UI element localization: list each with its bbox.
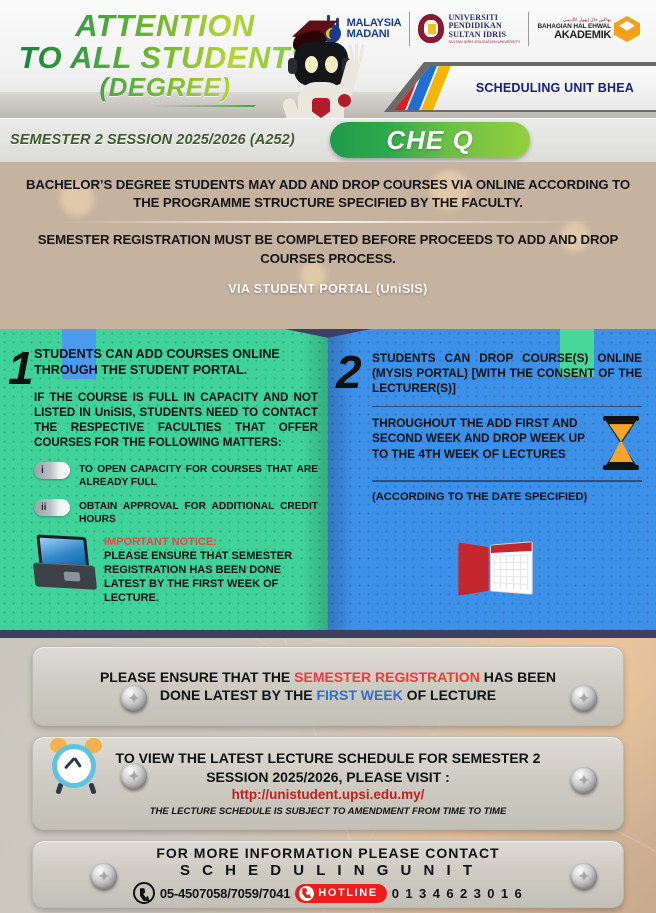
roman-badge-ii-label: ii [34, 502, 47, 513]
roman-badge-ii: ii [34, 499, 70, 516]
roman-badge-i: i [34, 462, 70, 479]
screw-icon [571, 685, 597, 711]
screw-icon [571, 767, 597, 793]
important-notice: IMPORTANT NOTICE: PLEASE ENSURE THAT SEM… [34, 536, 318, 606]
card2-line-1: TO VIEW THE LATEST LECTURE SCHEDULE FOR … [116, 749, 541, 767]
cheq-badge-label: CHE Q [386, 125, 473, 156]
info-card-registration: PLEASE ENSURE THAT THE SEMESTER REGISTRA… [32, 646, 624, 726]
blue-lead-text: STUDENTS CAN DROP COURSE(S) ONLINE (MYSI… [372, 351, 642, 396]
bhea-logo: بهاݢين حال إيهول اكاديمي BAHAGIAN HAL EH… [529, 16, 648, 42]
list-item: ii OBTAIN APPROVAL FOR ADDITIONAL CREDIT… [34, 499, 318, 527]
robot-mascot-icon [272, 14, 382, 118]
hotline-label: HOTLINE [318, 887, 377, 899]
hotline-phone-icon [299, 886, 314, 901]
header: ATTENTION TO ALL STUDENTS (DEGREE) MALAY… [0, 0, 656, 118]
semester-bar: SEMESTER 2 SESSION 2025/2026 (A252) CHE … [0, 118, 656, 162]
screw-icon [121, 763, 147, 789]
list-item-text: OBTAIN APPROVAL FOR ADDITIONAL CREDIT HO… [79, 499, 318, 527]
laptop-icon [34, 536, 96, 592]
scheduling-banner-label: SCHEDULING UNIT BHEA [476, 81, 656, 95]
alarm-clock-icon [48, 738, 104, 794]
schedule-url-link[interactable]: http://unistudent.upsi.edu.my/ [116, 786, 541, 804]
card2-line-2: SESSION 2025/2026, PLEASE VISIT : [116, 768, 541, 786]
intro-section: BACHELOR’S DEGREE STUDENTS MAY ADD AND D… [0, 162, 656, 329]
upsi-crest-icon [418, 14, 444, 43]
screw-icon [571, 863, 597, 889]
cheq-badge: CHE Q [330, 122, 530, 158]
step-number-1: 1 [8, 345, 34, 391]
bottom-top-border [0, 630, 656, 638]
upsi-line-3: SULTAN IDRIS [448, 31, 520, 39]
green-lead-text: STUDENTS CAN ADD COURSES ONLINE THROUGH … [34, 347, 318, 378]
intro-paragraph-2: SEMESTER REGISTRATION MUST BE COMPLETED … [18, 231, 638, 267]
screw-icon [91, 863, 117, 889]
contact-phone-number: 05-4507058/7059/7041 [160, 886, 290, 901]
green-panel-body: STUDENTS CAN ADD COURSES ONLINE THROUGH … [34, 347, 318, 605]
title-underline [149, 105, 256, 107]
upsi-logo: UNIVERSITI PENDIDIKAN SULTAN IDRIS SULTA… [410, 14, 528, 44]
roman-badge-i-label: i [34, 465, 44, 476]
notice-title: IMPORTANT NOTICE: [104, 536, 318, 549]
blue-middle-text: THROUGHOUT THE ADD FIRST AND SECOND WEEK… [372, 416, 594, 462]
card1-part3: OF LECTURE [403, 687, 496, 703]
blue-note-text: (ACCORDING TO THE DATE SPECIFIED) [372, 491, 642, 503]
info-card-schedule: TO VIEW THE LATEST LECTURE SCHEDULE FOR … [32, 736, 624, 830]
intro-paragraph-1: BACHELOR’S DEGREE STUDENTS MAY ADD AND D… [18, 176, 638, 212]
hotline-number: 0 1 3 4 6 2 3 0 1 6 [392, 886, 523, 901]
card1-highlight-semester-registration: SEMESTER REGISTRATION [294, 669, 480, 685]
card3-line-1: FOR MORE INFORMATION PLEASE CONTACT [133, 844, 523, 862]
list-item-text: TO OPEN CAPACITY FOR COURSES THAT ARE AL… [79, 462, 318, 490]
notice-text: PLEASE ENSURE THAT SEMESTER REGISTRATION… [104, 549, 318, 605]
card3-scheduling-unit: S C H E D U L I N G U N I T [133, 862, 523, 879]
blue-divider-1 [372, 406, 642, 408]
card1-highlight-first-week: FIRST WEEK [316, 687, 402, 703]
poster: ATTENTION TO ALL STUDENTS (DEGREE) MALAY… [0, 0, 656, 913]
card2-fine-print: THE LECTURE SCHEDULE IS SUBJECT TO AMEND… [116, 806, 541, 817]
phone-icon [133, 882, 155, 904]
bhea-hexagon-icon [614, 16, 640, 42]
scheduling-banner: SCHEDULING UNIT BHEA [394, 66, 656, 110]
calendar-icon [458, 539, 532, 595]
blue-panel-body: STUDENTS CAN DROP COURSE(S) ONLINE (MYSI… [372, 351, 642, 503]
steps-section: 1 2 STUDENTS CAN ADD COURSES ONLINE THRO… [0, 329, 656, 630]
green-item-list: i TO OPEN CAPACITY FOR COURSES THAT ARE … [34, 462, 318, 526]
contact-row: 05-4507058/7059/7041 HOTLINE 0 1 3 4 6 2… [133, 882, 523, 904]
semester-label: SEMESTER 2 SESSION 2025/2026 (A252) [0, 132, 295, 148]
hotline-badge: HOTLINE [295, 884, 386, 903]
list-item: i TO OPEN CAPACITY FOR COURSES THAT ARE … [34, 462, 318, 490]
green-paragraph: IF THE COURSE IS FULL IN CAPACITY AND NO… [34, 390, 318, 450]
step-number-2: 2 [336, 349, 362, 395]
intro-via-portal: VIA STUDENT PORTAL (UniSIS) [18, 282, 638, 296]
info-card-contact: FOR MORE INFORMATION PLEASE CONTACT S C … [32, 840, 624, 908]
card1-part1: PLEASE ENSURE THAT THE [100, 669, 294, 685]
upsi-subtitle: SULTAN IDRIS EDUCATION UNIVERSITY [448, 40, 520, 44]
blue-divider-2 [372, 480, 642, 482]
hourglass-icon [600, 416, 642, 470]
bhea-line-2: AKADEMIK [537, 30, 611, 40]
intro-divider [61, 221, 594, 223]
screw-icon [121, 685, 147, 711]
